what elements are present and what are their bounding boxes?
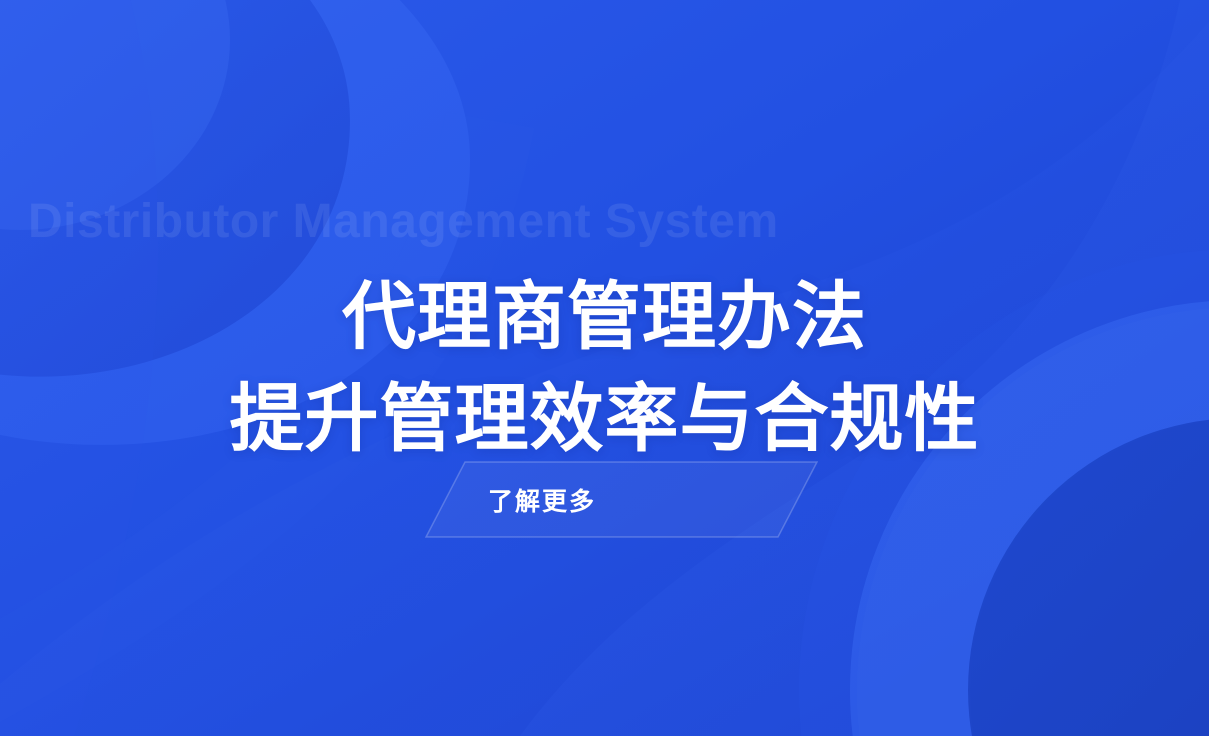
learn-more-button[interactable]: 了解更多 bbox=[425, 461, 818, 538]
page-title: 代理商管理办法 提升管理效率与合规性 bbox=[230, 266, 980, 470]
headline-line-1: 代理商管理办法 bbox=[230, 266, 980, 368]
cta-label[interactable]: 了解更多 bbox=[488, 461, 596, 538]
cta-parallelogram-shape[interactable] bbox=[425, 461, 818, 538]
cta-outline bbox=[426, 462, 817, 537]
headline-line-2: 提升管理效率与合规性 bbox=[230, 368, 980, 470]
banner-content: 代理商管理办法 提升管理效率与合规性 bbox=[0, 0, 1209, 736]
promo-banner: Distributor Management System 代理商管理办法 提升… bbox=[0, 0, 1209, 736]
